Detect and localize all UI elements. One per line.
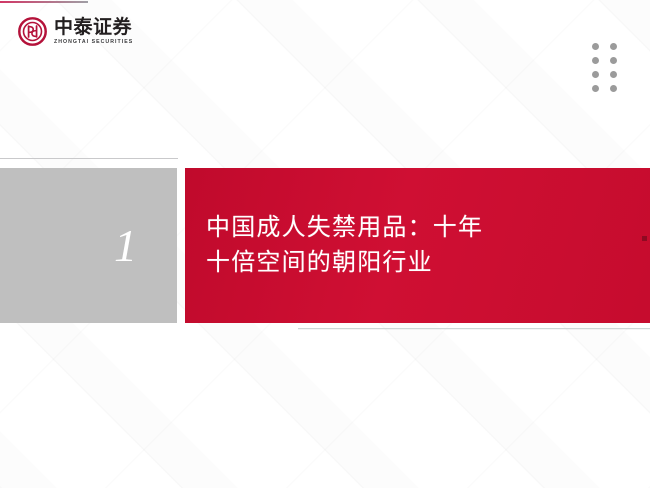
dot (610, 85, 617, 92)
logo-text: 中泰证券 ZHONGTAI SECURITIES (54, 18, 133, 45)
title-banner: 中国成人失禁用品：十年 十倍空间的朝阳行业 (185, 168, 650, 323)
dot (592, 43, 599, 50)
dot-grid-decoration (592, 43, 619, 99)
dot (592, 57, 599, 64)
dot (610, 71, 617, 78)
slide-title: 中国成人失禁用品：十年 十倍空间的朝阳行业 (206, 210, 636, 280)
banner-bottom-rule-shadow (298, 329, 650, 330)
dot (592, 71, 599, 78)
presentation-slide: 中泰证券 ZHONGTAI SECURITIES 1 中国成人失禁用品：十年 十… (0, 0, 650, 488)
logo-company-name-cn: 中泰证券 (54, 18, 133, 38)
section-top-rule (0, 158, 178, 159)
company-logo: 中泰证券 ZHONGTAI SECURITIES (18, 17, 133, 46)
dot (610, 43, 617, 50)
zhongtai-circular-emblem-icon (18, 17, 47, 46)
edge-marker (642, 236, 647, 241)
dot (610, 57, 617, 64)
section-number: 1 (114, 223, 137, 269)
logo-company-name-en: ZHONGTAI SECURITIES (54, 40, 133, 45)
section-number-block: 1 (0, 168, 177, 323)
dot (592, 85, 599, 92)
top-accent-rule (0, 1, 88, 3)
